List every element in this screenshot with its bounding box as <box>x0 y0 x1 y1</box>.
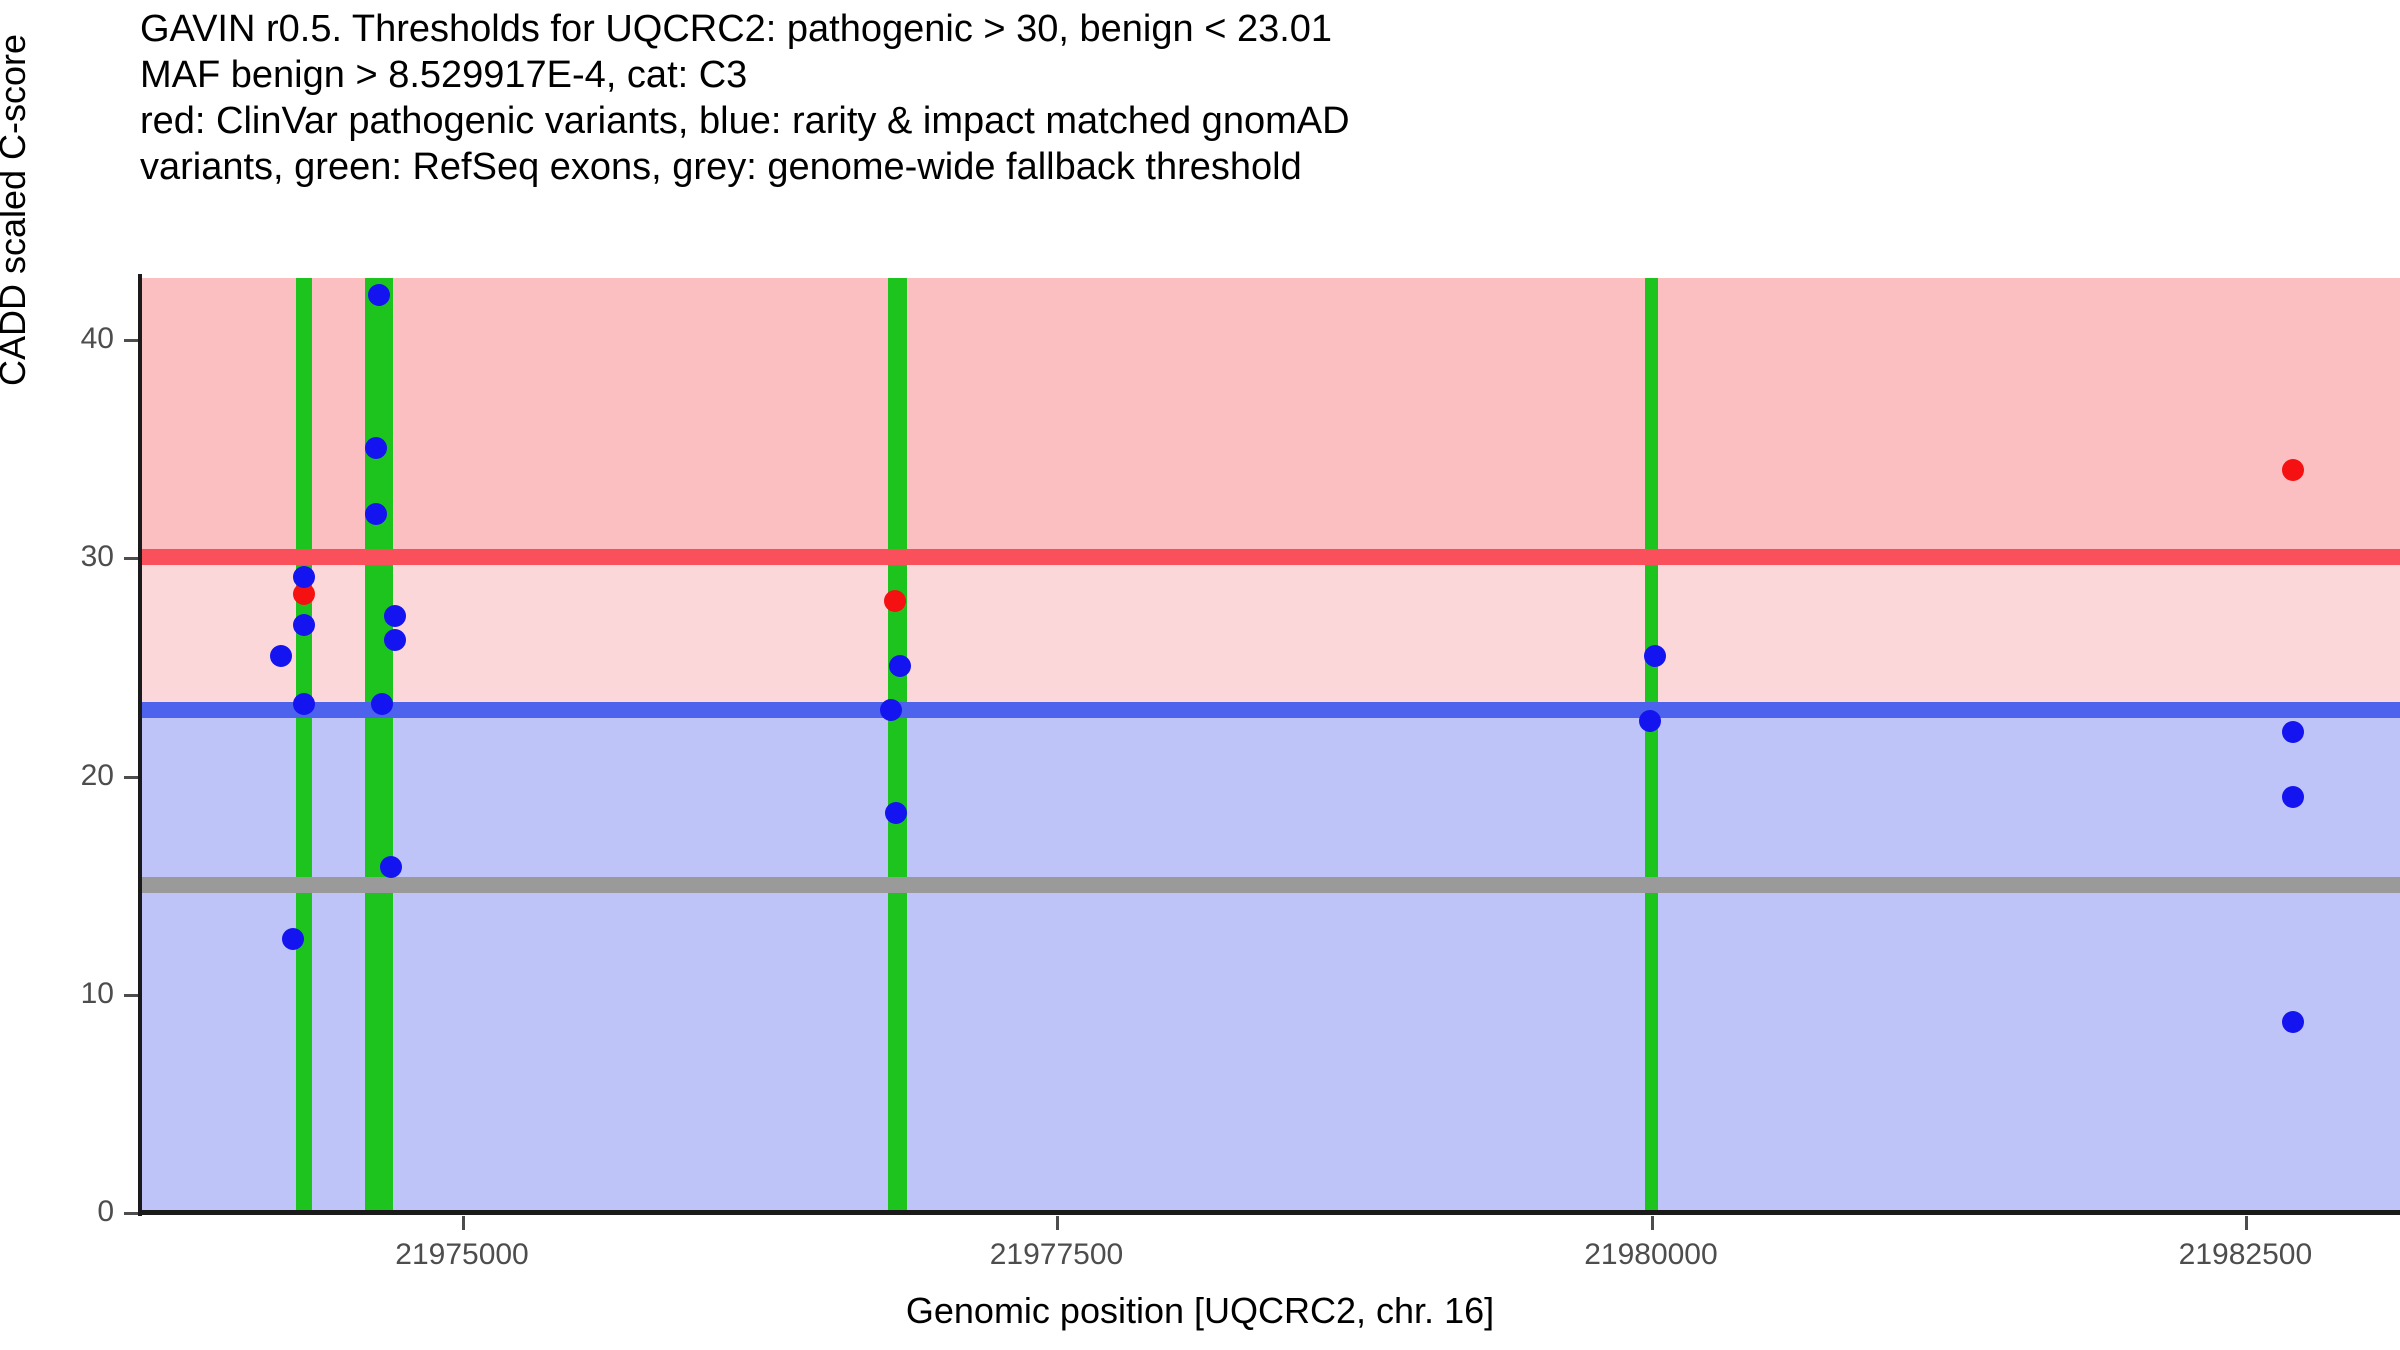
x-axis-tick-label: 21975000 <box>332 1238 592 1272</box>
y-axis-line <box>138 274 142 1216</box>
benign-band <box>141 710 2400 1212</box>
y-axis-tick <box>124 557 138 560</box>
x-axis-tick-label: 21982500 <box>2115 1238 2375 1272</box>
gnomad-variant-point <box>380 856 402 878</box>
clinvar-variant-point <box>2282 459 2304 481</box>
pathogenic-threshold-line <box>141 549 2400 565</box>
gnomad-variant-point <box>270 645 292 667</box>
exon-1 <box>296 278 313 1212</box>
title-line-4: variants, green: RefSeq exons, grey: gen… <box>140 144 2340 190</box>
x-axis-tick-label: 21977500 <box>926 1238 1186 1272</box>
title-line-3: red: ClinVar pathogenic variants, blue: … <box>140 98 2340 144</box>
chart-title-block: GAVIN r0.5. Thresholds for UQCRC2: patho… <box>140 6 2340 190</box>
clinvar-variant-point <box>884 590 906 612</box>
x-axis-title: Genomic position [UQCRC2, chr. 16] <box>0 1290 2400 1332</box>
y-axis-tick-label: 0 <box>14 1195 114 1229</box>
gnomad-variant-point <box>365 437 387 459</box>
x-axis-tick-label: 21980000 <box>1521 1238 1781 1272</box>
gnomad-variant-point <box>365 503 387 525</box>
plot-panel <box>141 278 2400 1212</box>
x-axis-tick <box>1651 1216 1654 1230</box>
intermediate-band <box>141 557 2400 710</box>
gnomad-variant-point <box>880 699 902 721</box>
x-axis-line <box>138 1210 2400 1215</box>
gnomad-variant-point <box>368 284 390 306</box>
x-axis-tick <box>2245 1216 2248 1230</box>
gnomad-variant-point <box>384 629 406 651</box>
gnomad-variant-point <box>371 693 393 715</box>
gnomad-variant-point <box>2282 721 2304 743</box>
y-axis-title: CADD scaled C-score <box>0 0 34 430</box>
y-axis-tick <box>124 994 138 997</box>
gnomad-variant-point <box>384 605 406 627</box>
x-axis-tick <box>462 1216 465 1230</box>
gnomad-variant-point <box>282 928 304 950</box>
benign-threshold-line <box>141 702 2400 718</box>
y-axis-tick <box>124 1212 138 1215</box>
gnomad-variant-point <box>1639 710 1661 732</box>
exon-3 <box>888 278 907 1212</box>
fallback-threshold-line <box>141 877 2400 893</box>
x-axis-tick <box>1056 1216 1059 1230</box>
gnomad-variant-point <box>889 655 911 677</box>
exon-2 <box>365 278 394 1212</box>
y-axis-tick-label: 30 <box>14 540 114 574</box>
y-axis-tick <box>124 339 138 342</box>
chart-root: GAVIN r0.5. Thresholds for UQCRC2: patho… <box>0 0 2400 1350</box>
gnomad-variant-point <box>1644 645 1666 667</box>
gnomad-variant-point <box>2282 786 2304 808</box>
gnomad-variant-point <box>293 566 315 588</box>
title-line-2: MAF benign > 8.529917E-4, cat: C3 <box>140 52 2340 98</box>
y-axis-tick-label: 10 <box>14 977 114 1011</box>
gnomad-variant-point <box>2282 1011 2304 1033</box>
y-axis-tick <box>124 776 138 779</box>
exon-4 <box>1645 278 1658 1212</box>
pathogenic-band <box>141 278 2400 557</box>
title-line-1: GAVIN r0.5. Thresholds for UQCRC2: patho… <box>140 6 2340 52</box>
gnomad-variant-point <box>293 614 315 636</box>
gnomad-variant-point <box>885 802 907 824</box>
gnomad-variant-point <box>293 693 315 715</box>
y-axis-tick-label: 20 <box>14 759 114 793</box>
